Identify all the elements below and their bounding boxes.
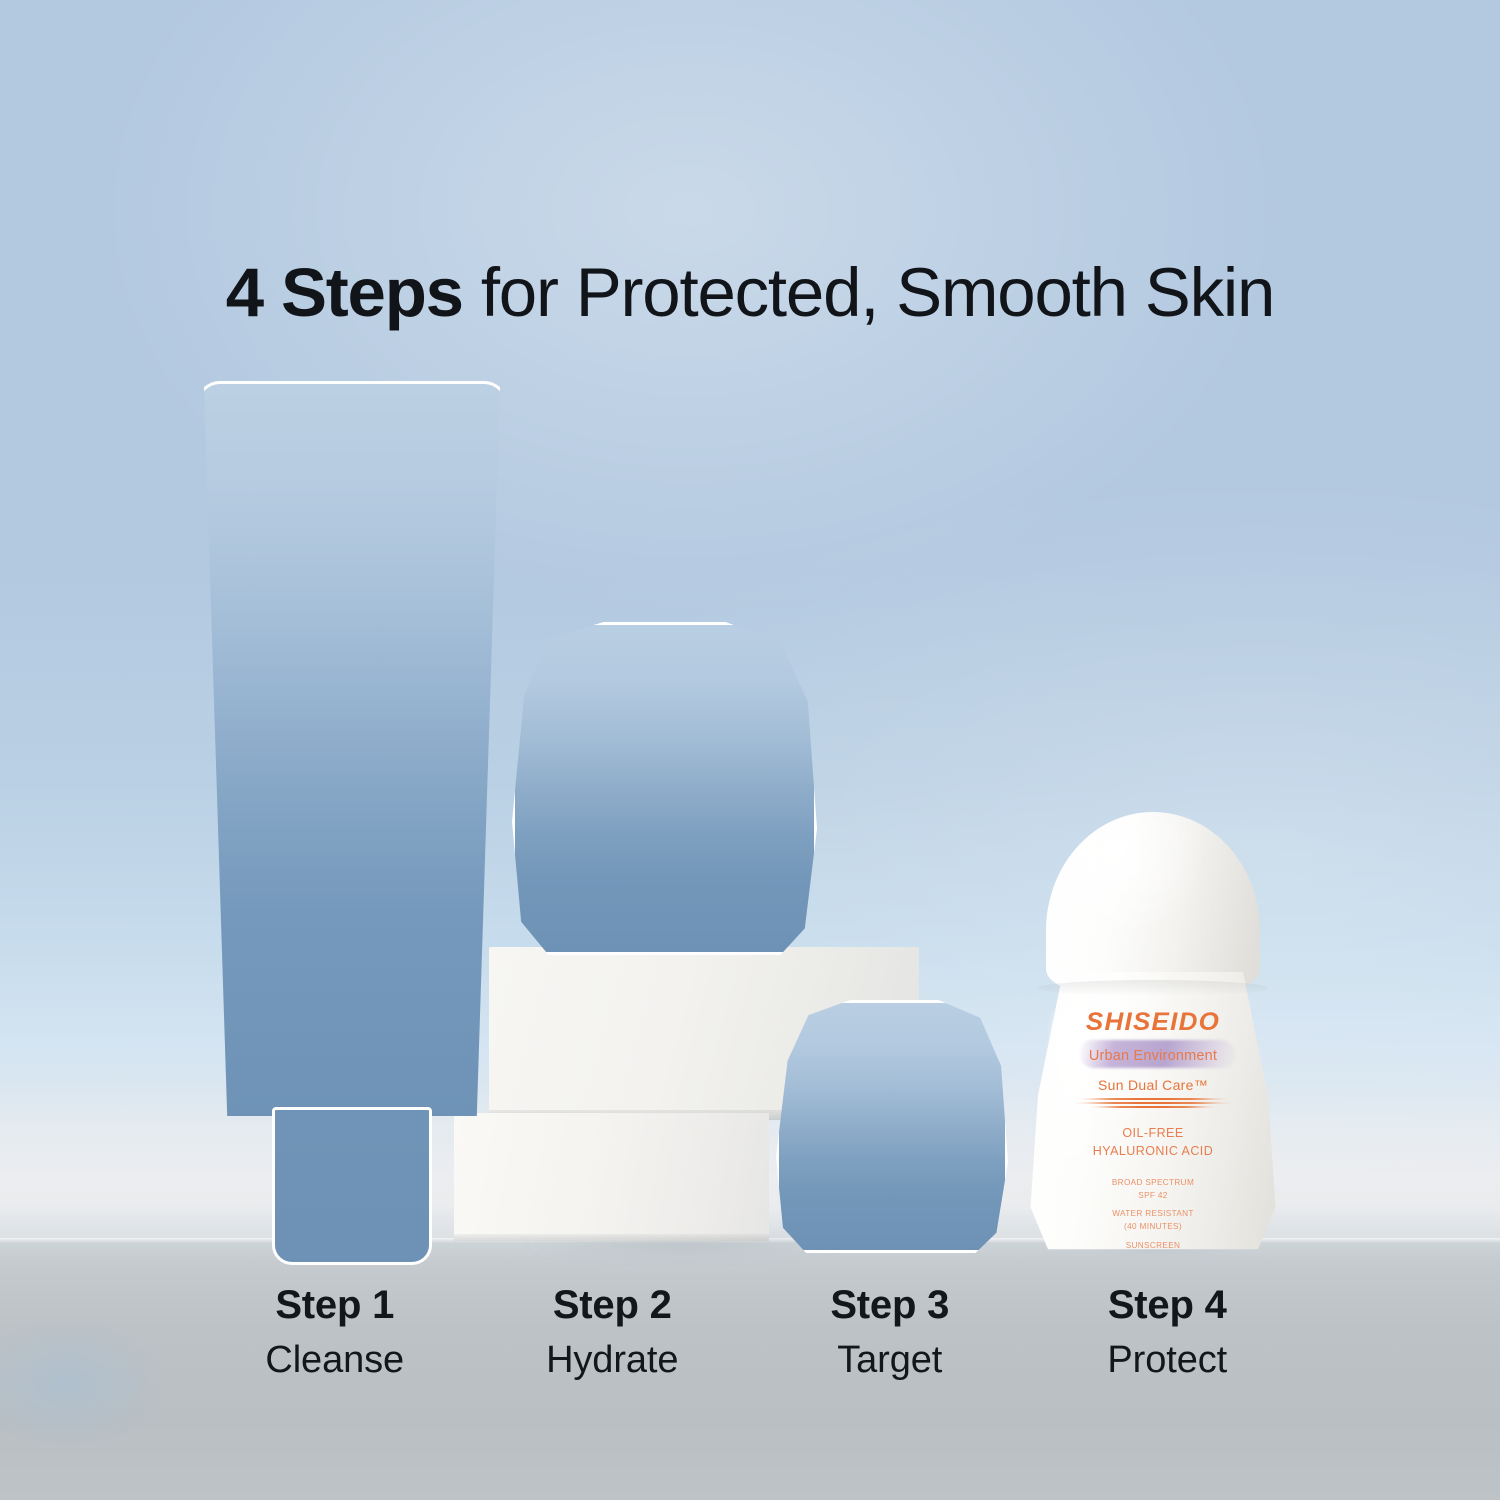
product-claims: OIL-FREE HYALURONIC ACID bbox=[1028, 1125, 1278, 1161]
step-name: Target bbox=[751, 1339, 1029, 1382]
step-4-product-sunscreen-bottle: SHISEIDO Urban Environment Sun Dual Care… bbox=[1028, 812, 1278, 1252]
step-label: Step 2 bbox=[474, 1283, 752, 1328]
fine-category: SUNSCREEN bbox=[1028, 1239, 1278, 1252]
headline-strong: 4 Steps bbox=[226, 254, 463, 331]
step-label: Step 1 bbox=[196, 1283, 474, 1328]
fine-spf: SPF 42 bbox=[1028, 1189, 1278, 1202]
step-name: Protect bbox=[1029, 1339, 1307, 1382]
product-fine-print: BROAD SPECTRUM SPF 42 WATER RESISTANT (4… bbox=[1028, 1176, 1278, 1252]
step-2-figure-moisturizer-jar bbox=[512, 622, 817, 955]
claim-hyaluronic-acid: HYALURONIC ACID bbox=[1028, 1143, 1278, 1161]
step-label: Step 3 bbox=[751, 1283, 1029, 1328]
page-title: 4 Steps for Protected, Smooth Skin bbox=[0, 253, 1500, 332]
step-3-figure-treatment-jar bbox=[776, 1000, 1008, 1253]
step-caption-1: Step 1 Cleanse bbox=[196, 1283, 474, 1381]
step-name: Cleanse bbox=[196, 1339, 474, 1382]
product-hero-scene: 4 Steps for Protected, Smooth Skin SHISE… bbox=[0, 0, 1500, 1500]
fine-broad-spectrum: BROAD SPECTRUM bbox=[1028, 1176, 1278, 1189]
step-caption-3: Step 3 Target bbox=[751, 1283, 1029, 1381]
fine-duration: (40 MINUTES) bbox=[1028, 1220, 1278, 1233]
step-caption-2: Step 2 Hydrate bbox=[474, 1283, 752, 1381]
step-1-figure-cleanser-tube bbox=[196, 381, 508, 1265]
step-caption-4: Step 4 Protect bbox=[1029, 1283, 1307, 1381]
tube-body bbox=[196, 381, 508, 1116]
tube-cap bbox=[272, 1107, 431, 1265]
bottle-cap bbox=[1046, 812, 1260, 990]
brand-wordmark: SHISEIDO bbox=[1023, 1008, 1283, 1037]
step-captions: Step 1 Cleanse Step 2 Hydrate Step 3 Tar… bbox=[196, 1283, 1306, 1381]
orange-swoosh-underline bbox=[1073, 1098, 1233, 1109]
product-sub-line: Sun Dual Care™ bbox=[1028, 1077, 1278, 1093]
fine-water-resistant: WATER RESISTANT bbox=[1028, 1207, 1278, 1220]
claim-oil-free: OIL-FREE bbox=[1028, 1125, 1278, 1143]
step-label: Step 4 bbox=[1029, 1283, 1307, 1328]
product-line-name: Urban Environment bbox=[1028, 1048, 1278, 1064]
bottle-seam bbox=[1038, 980, 1268, 996]
jar-body bbox=[512, 622, 817, 955]
headline-rest: for Protected, Smooth Skin bbox=[463, 254, 1274, 331]
product-label: SHISEIDO Urban Environment Sun Dual Care… bbox=[1028, 1008, 1278, 1252]
step-name: Hydrate bbox=[474, 1339, 752, 1382]
jar-body bbox=[776, 1000, 1008, 1253]
